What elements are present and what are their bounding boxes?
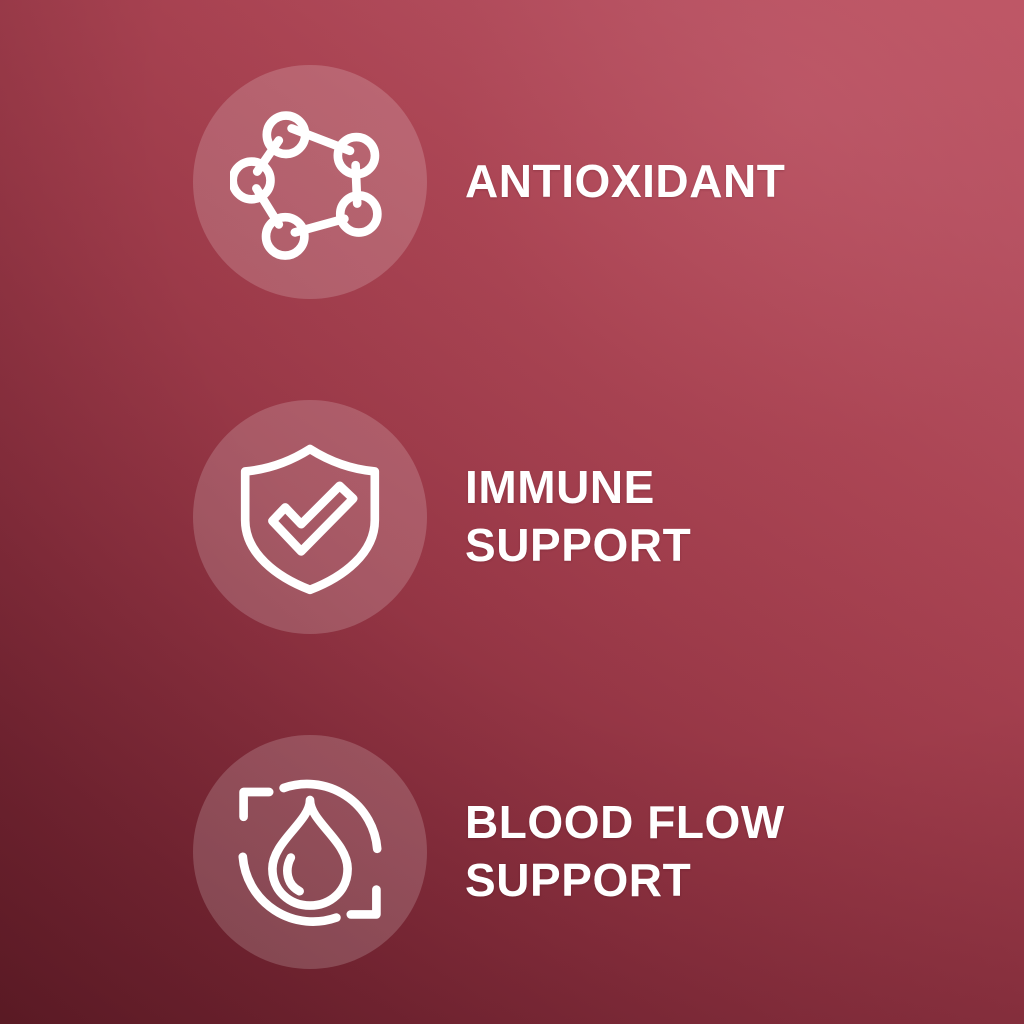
molecule-pentagon-icon	[230, 102, 390, 262]
icon-badge-blood-flow-support	[193, 735, 427, 969]
icon-badge-immune-support	[193, 400, 427, 634]
icon-badge-antioxidant	[193, 65, 427, 299]
shield-check-icon	[230, 437, 390, 597]
benefit-label-immune-support: IMMUNE SUPPORT	[465, 459, 691, 575]
benefit-label-antioxidant: ANTIOXIDANT	[465, 153, 785, 211]
benefit-item-blood-flow-support: BLOOD FLOW SUPPORT	[0, 726, 1024, 978]
benefit-item-antioxidant: ANTIOXIDANT	[0, 56, 1024, 308]
benefit-item-immune-support: IMMUNE SUPPORT	[0, 391, 1024, 643]
blood-drop-cycle-icon	[230, 772, 390, 932]
benefit-label-blood-flow-support: BLOOD FLOW SUPPORT	[465, 794, 785, 910]
benefits-graphic: ANTIOXIDANT IMMUNE SUPPORT	[0, 0, 1024, 1024]
